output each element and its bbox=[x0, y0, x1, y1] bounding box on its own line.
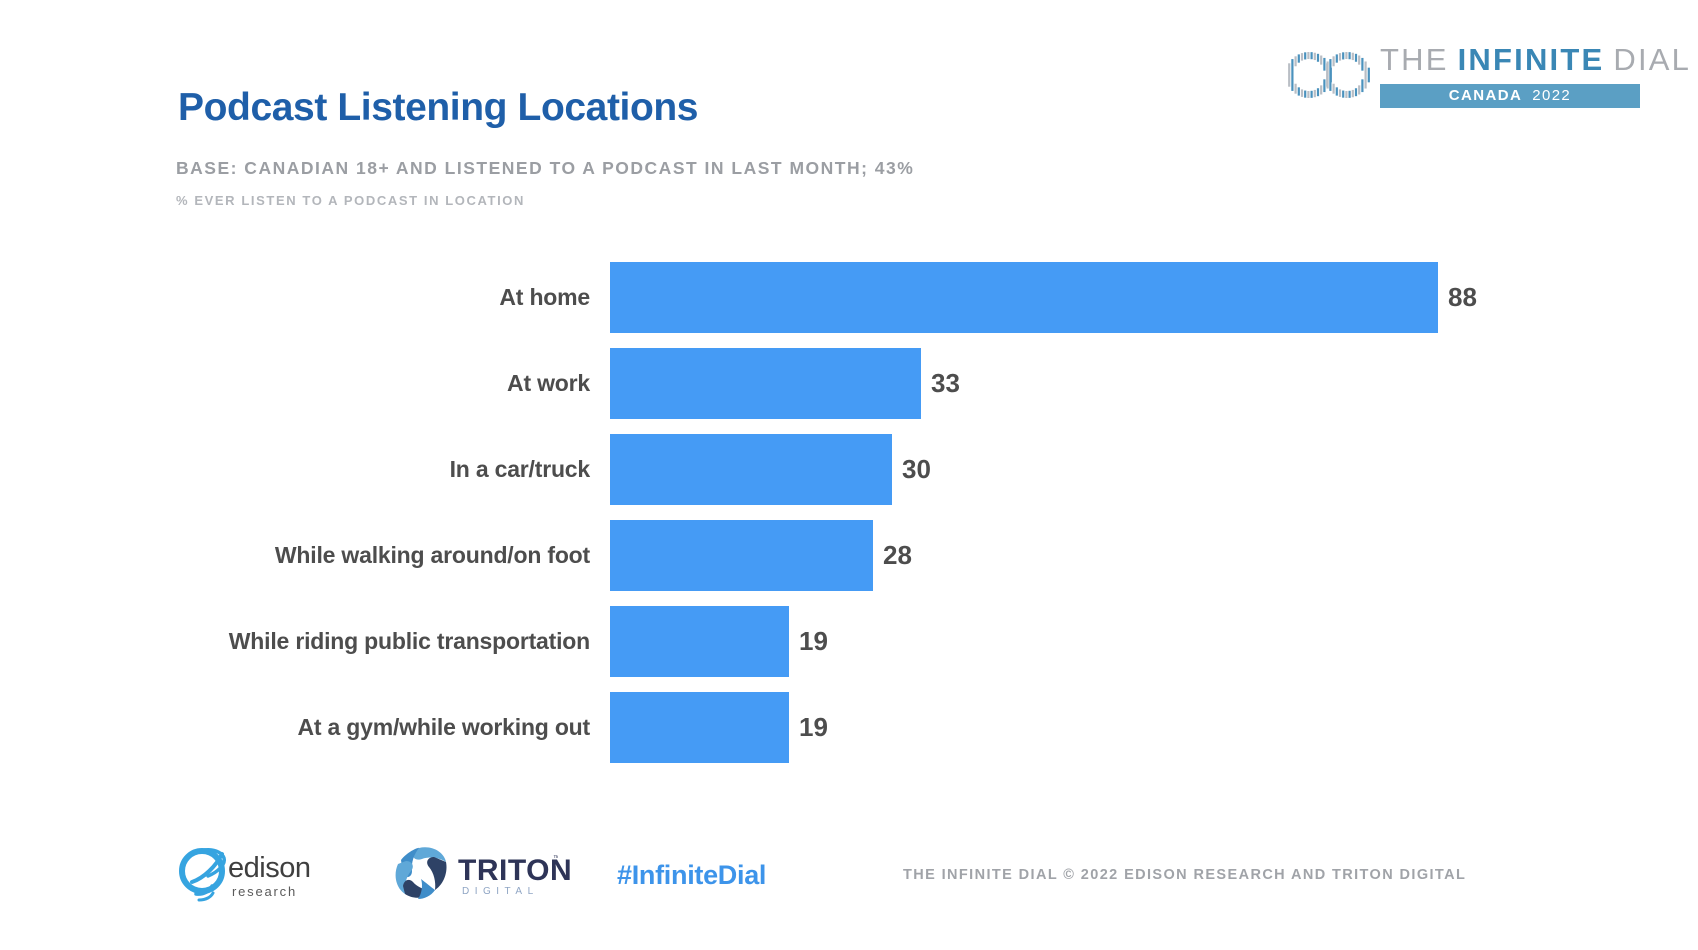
bar-track bbox=[610, 262, 1438, 333]
edison-research-logo: edison research bbox=[176, 842, 326, 904]
infinite-dial-logo: THEINFINITEDIAL CANADA2022 bbox=[1285, 40, 1640, 112]
triton-wordmark: TRITON bbox=[458, 854, 572, 888]
logo-wordmark: THEINFINITEDIAL bbox=[1380, 42, 1691, 78]
bar-row: While riding public transportation19 bbox=[0, 602, 1698, 680]
bar-value-label: 33 bbox=[931, 344, 960, 422]
logo-word-the: THE bbox=[1380, 42, 1449, 77]
bar-category-label: At home bbox=[120, 258, 590, 336]
bar-fill[interactable] bbox=[610, 434, 892, 505]
logo-word-dial: DIAL bbox=[1613, 42, 1691, 77]
bar-chart: At home88At work33In a car/truck30While … bbox=[0, 258, 1698, 718]
bar-value-label: 30 bbox=[902, 430, 931, 508]
bar-category-label: In a car/truck bbox=[120, 430, 590, 508]
bar-fill[interactable] bbox=[610, 520, 873, 591]
bar-row: In a car/truck30 bbox=[0, 430, 1698, 508]
infinity-bars-icon bbox=[1285, 46, 1373, 104]
bar-track bbox=[610, 434, 892, 505]
footer: edison research ™ TRITON DIGITAL #Infini… bbox=[0, 830, 1698, 950]
bar-track bbox=[610, 520, 873, 591]
bar-value-label: 88 bbox=[1448, 258, 1477, 336]
bar-value-label: 28 bbox=[883, 516, 912, 594]
bar-category-label: At a gym/while working out bbox=[120, 688, 590, 766]
bar-category-label: While riding public transportation bbox=[120, 602, 590, 680]
bar-track bbox=[610, 348, 921, 419]
bar-fill[interactable] bbox=[610, 348, 921, 419]
chart-metric-statement: % EVER LISTEN TO A PODCAST IN LOCATION bbox=[176, 193, 525, 208]
bar-row: At home88 bbox=[0, 258, 1698, 336]
logo-word-infinite: INFINITE bbox=[1458, 42, 1605, 77]
edison-wordmark: edison bbox=[228, 852, 310, 885]
bar-fill[interactable] bbox=[610, 692, 789, 763]
hashtag-infinitedial[interactable]: #InfiniteDial bbox=[617, 860, 766, 891]
bar-category-label: While walking around/on foot bbox=[120, 516, 590, 594]
triton-digital-logo: ™ TRITON DIGITAL bbox=[388, 842, 558, 904]
bar-value-label: 19 bbox=[799, 688, 828, 766]
logo-banner-country: CANADA bbox=[1449, 87, 1522, 104]
chart-base-statement: BASE: CANADIAN 18+ AND LISTENED TO A POD… bbox=[176, 158, 914, 179]
copyright-notice: THE INFINITE DIAL © 2022 EDISON RESEARCH… bbox=[903, 867, 1466, 883]
bar-value-label: 19 bbox=[799, 602, 828, 680]
edison-subword: research bbox=[232, 884, 297, 899]
logo-banner-year: 2022 bbox=[1532, 87, 1571, 104]
bar-track bbox=[610, 606, 789, 677]
bar-row: At a gym/while working out19 bbox=[0, 688, 1698, 766]
logo-banner: CANADA2022 bbox=[1380, 84, 1640, 108]
bar-fill[interactable] bbox=[610, 262, 1438, 333]
page-title: Podcast Listening Locations bbox=[178, 86, 698, 130]
bar-row: While walking around/on foot28 bbox=[0, 516, 1698, 594]
bar-fill[interactable] bbox=[610, 606, 789, 677]
bar-row: At work33 bbox=[0, 344, 1698, 422]
bar-category-label: At work bbox=[120, 344, 590, 422]
triton-subword: DIGITAL bbox=[462, 886, 539, 897]
bar-track bbox=[610, 692, 789, 763]
